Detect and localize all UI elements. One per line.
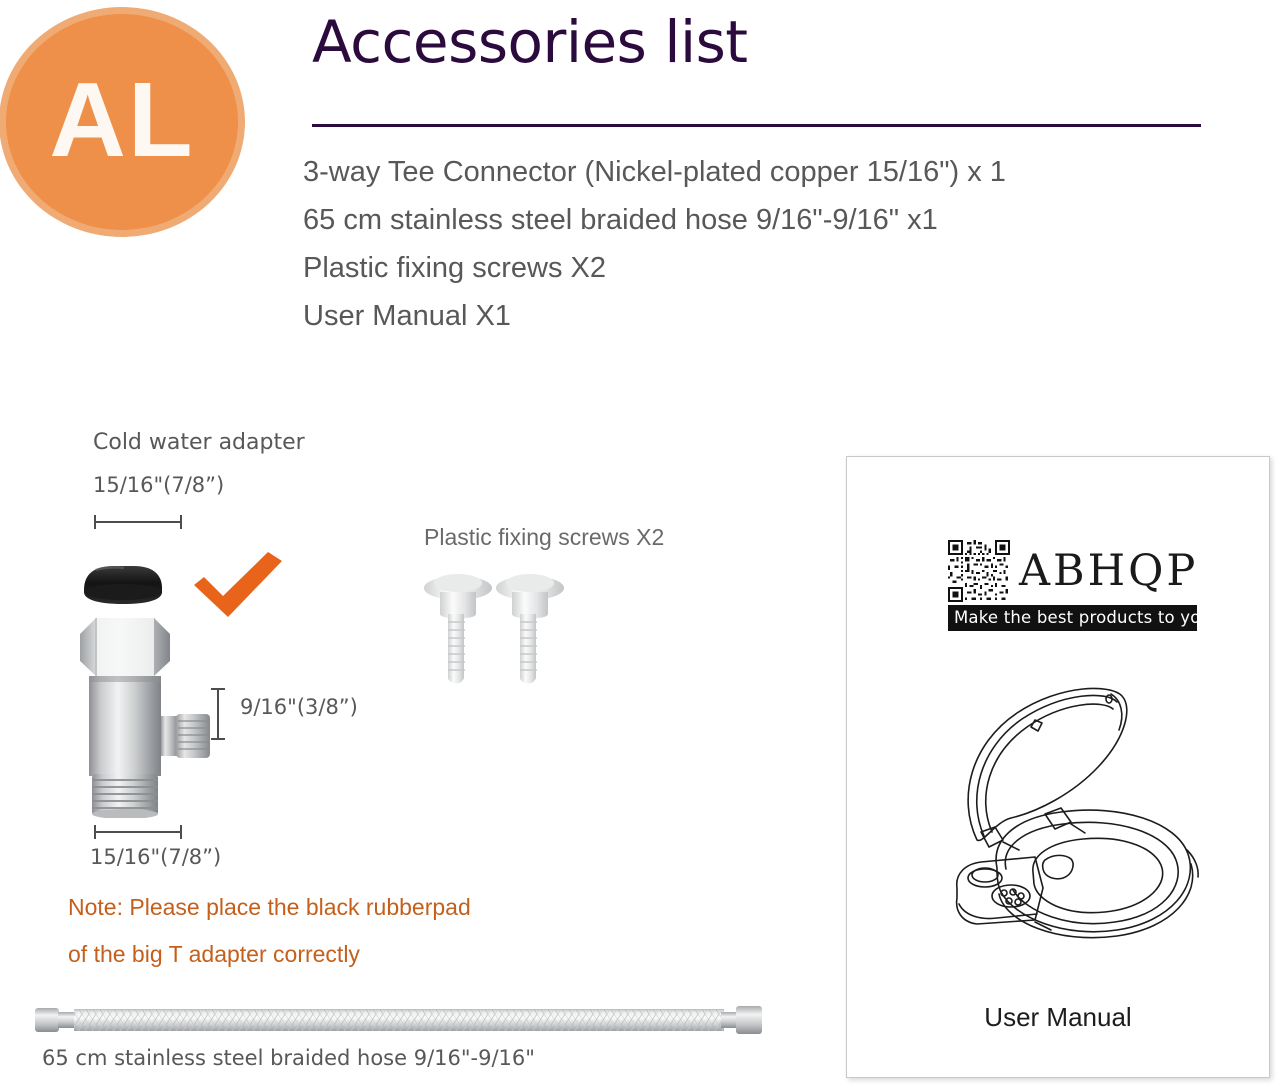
cold-water-adapter-label: Cold water adapter (93, 430, 305, 455)
plastic-fixing-screws-image (420, 570, 610, 705)
braided-hose-caption: 65 cm stainless steel braided hose 9/16"… (42, 1046, 535, 1070)
list-item: User Manual X1 (303, 292, 1223, 340)
cold-water-adapter-image (66, 556, 256, 818)
dimension-bracket-top (94, 515, 182, 529)
dimension-bracket-bottom (94, 825, 182, 839)
hex-nut (80, 618, 170, 676)
al-badge: AL (6, 14, 238, 230)
bidet-toilet-seat-illustration (885, 672, 1235, 972)
dimension-top-label: 15/16"(7/8”) (93, 473, 224, 497)
rubber-pad (84, 566, 162, 604)
bottom-thread (92, 774, 158, 818)
braided-hose-image (33, 1003, 767, 1041)
user-manual-panel: ABHQP Make the best products to you (846, 456, 1270, 1078)
list-item: Plastic fixing screws X2 (303, 244, 1223, 292)
abhqp-logo: ABHQP Make the best products to you (948, 540, 1208, 631)
accessories-list-page: AL Accessories list 3-way Tee Connector … (0, 0, 1285, 1087)
title-divider (312, 124, 1201, 127)
plastic-fixing-screws-label: Plastic fixing screws X2 (424, 524, 664, 551)
note-line-1: Note: Please place the black rubberpad (68, 894, 471, 921)
note-line-2: of the big T adapter correctly (68, 941, 360, 968)
brand-tagline: Make the best products to you (948, 605, 1197, 631)
screw (496, 574, 564, 683)
valve-barrel (89, 676, 161, 776)
brand-name: ABHQP (1019, 550, 1198, 593)
page-title: Accessories list (312, 8, 748, 76)
screw (424, 574, 492, 683)
list-item: 3-way Tee Connector (Nickel-plated coppe… (303, 148, 1223, 196)
accessories-list: 3-way Tee Connector (Nickel-plated coppe… (303, 148, 1223, 340)
dimension-side-label: 9/16"(3/8”) (240, 695, 358, 719)
al-badge-text: AL (6, 14, 238, 230)
qr-code-icon (948, 540, 1010, 602)
side-outlet (161, 714, 210, 758)
list-item: 65 cm stainless steel braided hose 9/16"… (303, 196, 1223, 244)
dimension-bottom-label: 15/16"(7/8”) (90, 845, 221, 869)
user-manual-caption: User Manual (847, 1002, 1269, 1033)
